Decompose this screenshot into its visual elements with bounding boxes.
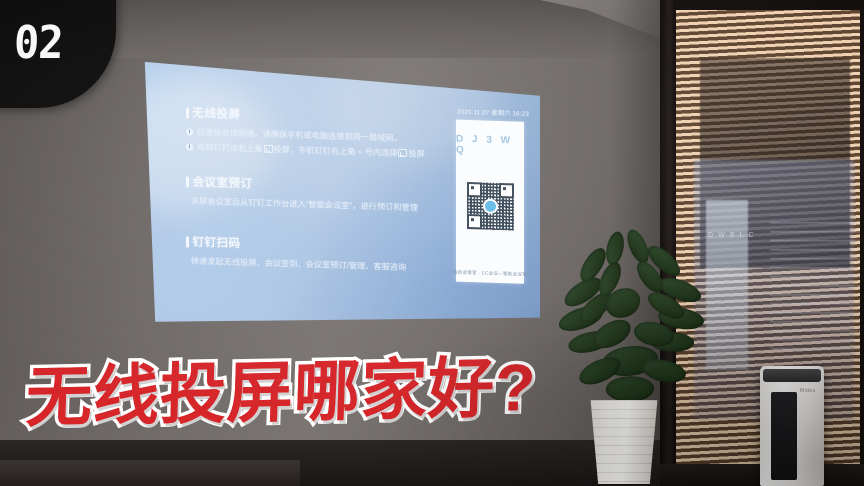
section-title-text: 会议室预订 <box>193 174 253 192</box>
purifier-top-vent <box>763 369 821 382</box>
qr-panel: 2020.11.07 星期六 16:23 D J 3 W Q 我的会客室 · C… <box>456 107 530 284</box>
purifier-front-panel <box>771 392 797 480</box>
projection-screen: 无线投屏 已连接有线网络，请确保手机或电脑连接到同一局域网。 电脑钉钉点右上角投… <box>140 55 540 330</box>
screen-content: 无线投屏 已连接有线网络，请确保手机或电脑连接到同一局域网。 电脑钉钉点右上角投… <box>140 55 540 342</box>
title-accent-bar <box>186 107 189 118</box>
section-title-text: 无线投屏 <box>193 105 241 122</box>
reflected-text-lines <box>770 222 860 352</box>
reflected-code-text: D W E L C <box>708 232 778 239</box>
section-dingtalk-scan: 钉钉扫码 快速发起无线投屏、会议签到、会议室预订/管理、客服咨询 <box>186 233 486 276</box>
reflected-qr-card <box>706 200 748 370</box>
photo-canvas: D W E L C 无线投屏 已连接有线 <box>0 0 864 486</box>
bullet-dot-icon <box>186 143 193 150</box>
datetime-label: 2020.11.07 星期六 16:23 <box>457 107 530 118</box>
title-accent-bar <box>186 236 189 247</box>
qr-caption: 我的会客室 · CC会议—智能会议室 <box>453 270 527 278</box>
qr-finder-icon <box>467 182 482 197</box>
qr-finder-icon <box>467 214 482 229</box>
bullet-text-mid: 投屏，手机钉钉右上角 + 号内选择 <box>274 145 398 158</box>
section-title-text: 钉钉扫码 <box>193 234 241 251</box>
purifier-brand-label: Midea <box>800 388 816 394</box>
air-purifier: Midea <box>760 366 824 486</box>
section-description: 关联会议室后从钉钉工作台进入"智能会议室"，进行预订和管理 <box>191 195 486 217</box>
qr-code-image[interactable] <box>467 182 514 230</box>
bullet-text-post: 投屏 <box>408 149 424 159</box>
pairing-code: D J 3 W Q <box>456 134 524 158</box>
cast-screen-icon <box>264 145 273 153</box>
bullet-dot-icon <box>186 128 193 135</box>
title-accent-bar <box>186 176 189 187</box>
qr-finder-icon <box>499 183 514 198</box>
bullet-text-pre: 电脑钉钉点右上角 <box>197 143 263 154</box>
section-description: 快速发起无线投屏、会议签到、会议室预订/管理、客服咨询 <box>191 255 486 277</box>
cast-screen-icon <box>398 149 407 157</box>
floor-skirting <box>0 460 300 486</box>
section-room-booking: 会议室预订 关联会议室后从钉钉工作台进入"智能会议室"，进行预订和管理 <box>186 173 486 216</box>
section-wireless-cast: 无线投屏 已连接有线网络，请确保手机或电脑连接到同一局域网。 电脑钉钉点右上角投… <box>186 104 486 162</box>
qr-card: D J 3 W Q 我的会客室 · CC会议—智能会议室 <box>456 120 524 284</box>
headline-outline: 无线投屏哪家好? <box>25 351 647 430</box>
badge-number: 02 <box>13 20 63 65</box>
instructions-column: 无线投屏 已连接有线网络，请确保手机或电脑连接到同一局域网。 电脑钉钉点右上角投… <box>186 104 486 293</box>
